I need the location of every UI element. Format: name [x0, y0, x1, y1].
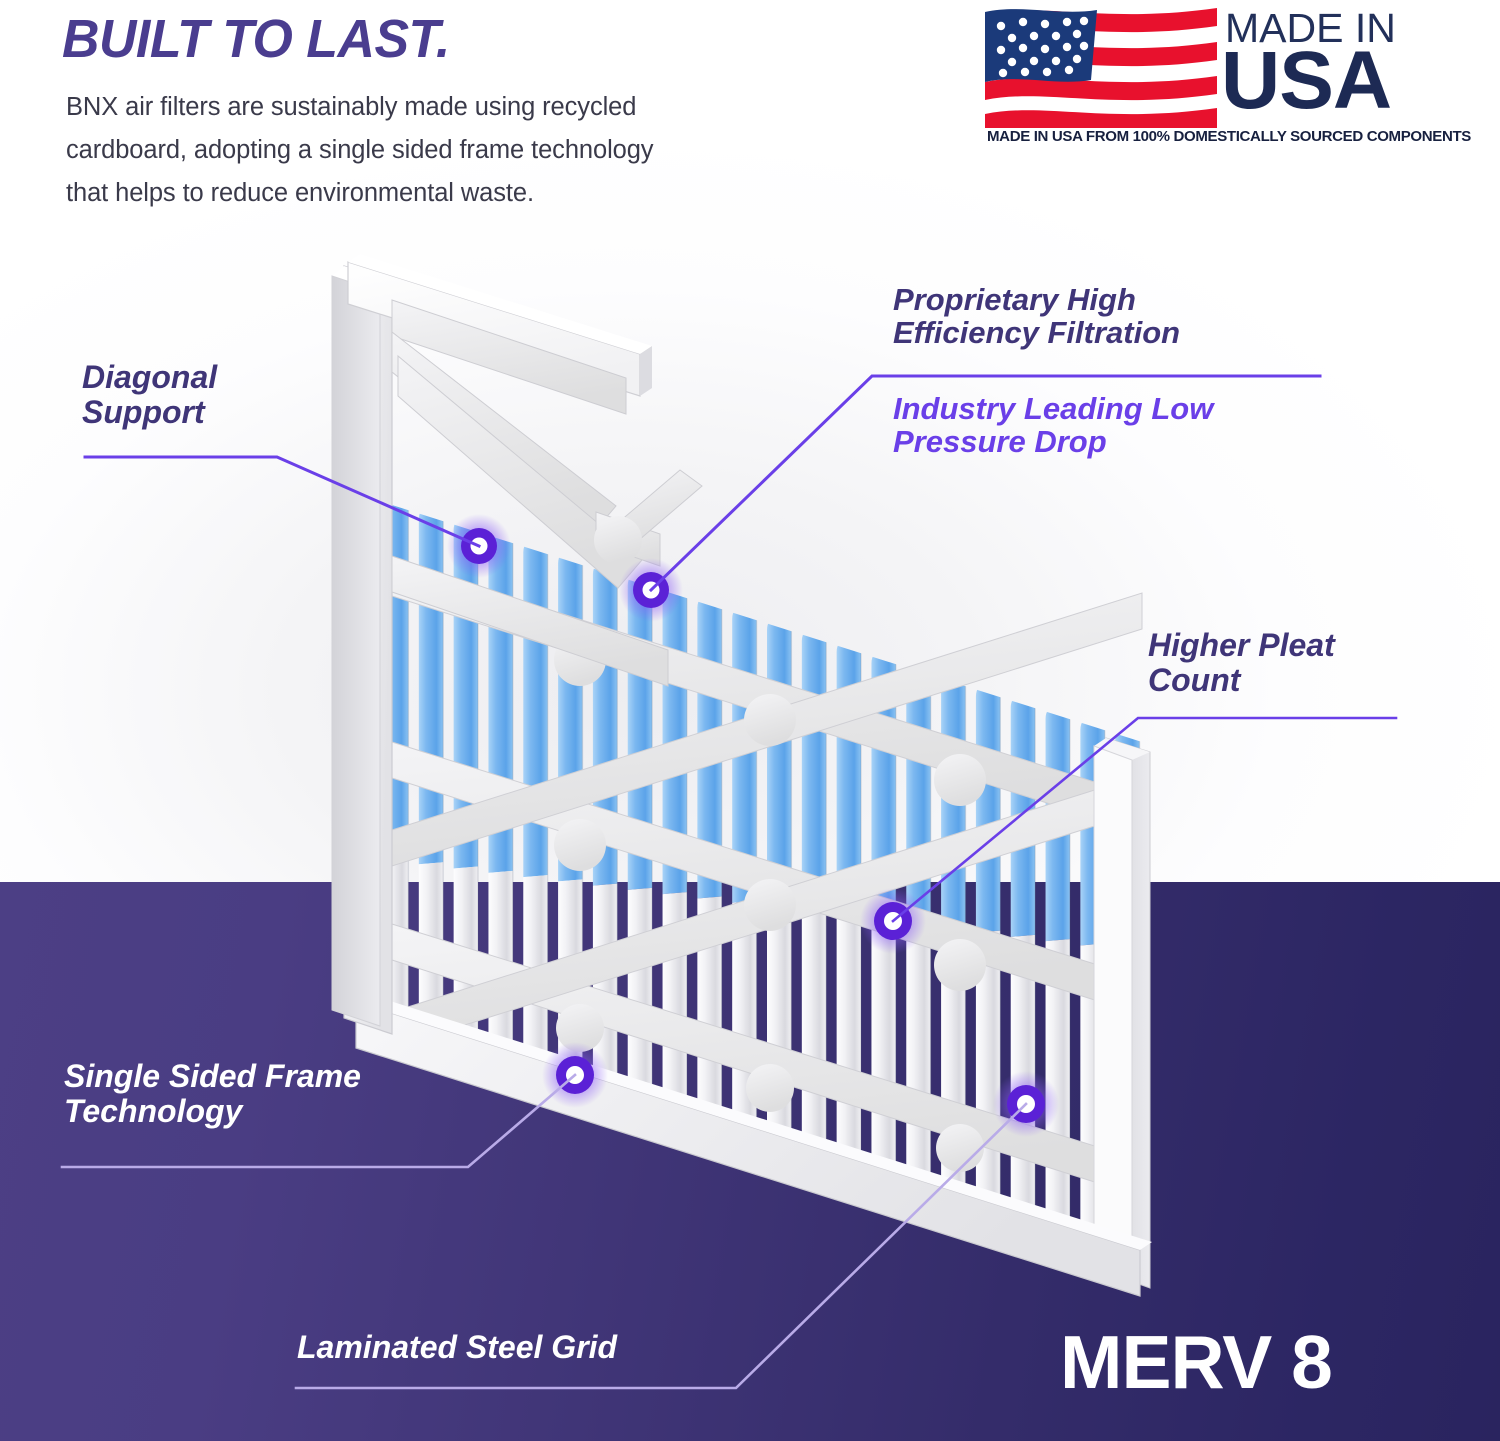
frame-right-cap [1094, 738, 1150, 1288]
callout-laminated-steel-grid: Laminated Steel Grid [297, 1330, 617, 1365]
frame-left-post [332, 266, 392, 1034]
usa-flag-icon [985, 6, 1217, 128]
subcopy-line: cardboard, adopting a single sided frame… [66, 129, 872, 172]
callout-line: Support [82, 395, 217, 430]
subcopy-line: BNX air filters are sustainably made usi… [66, 86, 872, 129]
badge-usa-label: USA [1221, 40, 1391, 122]
callout-line: Higher Pleat [1148, 628, 1335, 663]
page-headline: BUILT TO LAST. [62, 8, 450, 70]
pleat-segment-white [628, 888, 652, 1108]
pleat-segment-white [906, 922, 930, 1196]
page-subcopy: BNX air filters are sustainably made usi… [66, 86, 872, 215]
callout-line: Diagonal [82, 360, 217, 395]
pleat-segment-blue [802, 627, 826, 911]
callout-low-pressure-drop: Industry Leading Low Pressure Drop [893, 392, 1213, 459]
pleat-segment-white [837, 914, 861, 1174]
pleat-segment-white [871, 918, 895, 1185]
callout-line: Laminated Steel Grid [297, 1330, 617, 1365]
air-filter-illustration [0, 0, 1500, 1441]
pleat-segment-white [802, 909, 826, 1163]
callout-line: Technology [64, 1094, 361, 1129]
pleat-segment-blue [976, 683, 1000, 933]
merv-rating-label: MERV 8 [1060, 1325, 1332, 1400]
callout-diagonal-support: Diagonal Support [82, 360, 217, 429]
pleat-segment-white [767, 905, 791, 1152]
infographic-canvas: BUILT TO LAST. BNX air filters are susta… [0, 0, 1500, 1441]
callout-single-sided-frame: Single Sided Frame Technology [64, 1059, 361, 1128]
badge-disclaimer: MADE IN USA FROM 100% DOMESTICALLY SOURC… [987, 128, 1438, 145]
pleat-segment-blue [419, 505, 443, 864]
callout-line: Single Sided Frame [64, 1059, 361, 1094]
callout-proprietary-filtration: Proprietary High Efficiency Filtration [893, 283, 1180, 350]
made-in-usa-badge: MADE IN USA MADE IN USA FROM 100% DOMEST… [985, 4, 1445, 152]
callout-line: Industry Leading Low [893, 392, 1213, 425]
callout-line: Efficiency Filtration [893, 316, 1180, 349]
callout-line: Pressure Drop [893, 425, 1213, 458]
callout-higher-pleat-count: Higher Pleat Count [1148, 628, 1335, 697]
callout-line: Proprietary High [893, 283, 1180, 316]
callout-line: Count [1148, 663, 1335, 698]
subcopy-line: that helps to reduce environmental waste… [66, 172, 872, 215]
